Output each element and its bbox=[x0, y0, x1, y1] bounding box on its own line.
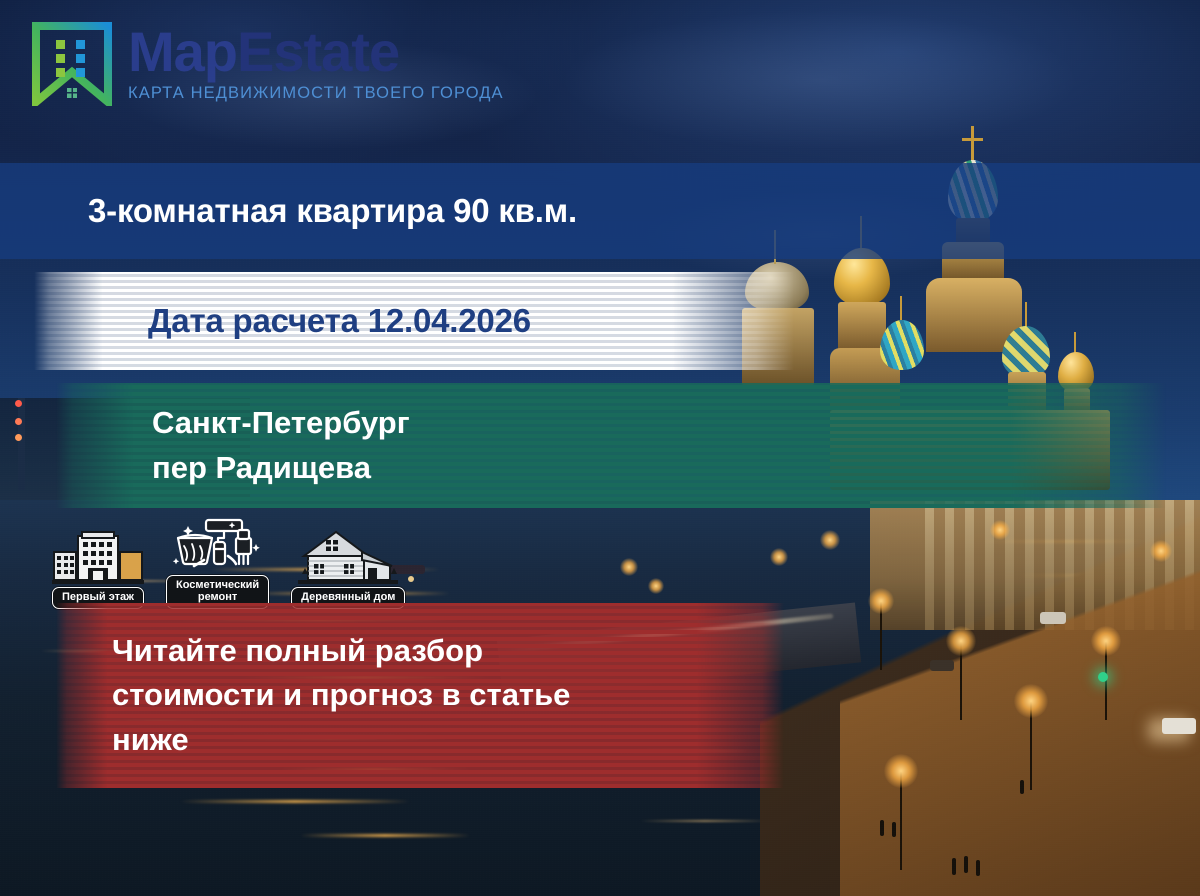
location-banner: Санкт-Петербург пер Радищева bbox=[56, 383, 1166, 508]
cathedral-striped-dome bbox=[880, 320, 924, 370]
city-name: Санкт-Петербург bbox=[152, 401, 1166, 446]
brand-name-map: Map bbox=[128, 20, 237, 83]
badge-art bbox=[298, 530, 398, 584]
street-lamp bbox=[1014, 684, 1048, 718]
badge-cosmetic-renovation[interactable]: Косметический ремонт bbox=[166, 518, 269, 609]
roadway bbox=[840, 560, 1200, 896]
cta-text: Читайте полный разбор стоимости и прогно… bbox=[56, 629, 784, 761]
wooden-house-icon bbox=[298, 530, 398, 584]
badge-art bbox=[52, 530, 144, 584]
cathedral-cross bbox=[900, 296, 902, 322]
brand-name-estate: Estate bbox=[237, 20, 399, 83]
brand-tagline: КАРТА НЕДВИЖИМОСТИ ТВОЕГО ГОРОДА bbox=[128, 84, 504, 103]
apartment-building-icon bbox=[52, 530, 144, 584]
street-lamp bbox=[620, 558, 638, 576]
map-estate-bookmark-building-icon bbox=[30, 22, 114, 106]
badge-art bbox=[170, 518, 266, 572]
cathedral-cross-bar bbox=[962, 138, 983, 141]
cta-line-1: Читайте полный разбор bbox=[112, 629, 764, 673]
cathedral-cross bbox=[1025, 302, 1027, 328]
brand-wordmark: MapEstate КАРТА НЕДВИЖИМОСТИ ТВОЕГО ГОРО… bbox=[128, 22, 504, 103]
street-lamp bbox=[1091, 626, 1121, 656]
traffic-light bbox=[1098, 672, 1108, 682]
calculation-date-banner: Дата расчета 12.04.2026 bbox=[34, 272, 794, 370]
street-lamp bbox=[820, 530, 840, 550]
cta-banner[interactable]: Читайте полный разбор стоимости и прогно… bbox=[56, 603, 784, 788]
brand-logo[interactable]: MapEstate КАРТА НЕДВИЖИМОСТИ ТВОЕГО ГОРО… bbox=[30, 22, 504, 106]
street-name: пер Радищева bbox=[152, 446, 1166, 491]
cta-line-3: ниже bbox=[112, 718, 764, 762]
brand-name: MapEstate bbox=[128, 24, 504, 80]
street-lamp bbox=[884, 754, 918, 788]
badge-first-floor[interactable]: Первый этаж bbox=[52, 530, 144, 609]
car bbox=[1162, 718, 1196, 734]
cta-line-2: стоимости и прогноз в статье bbox=[112, 673, 764, 717]
cathedral-cross bbox=[1074, 332, 1076, 354]
tower-beacon bbox=[15, 400, 22, 407]
property-title-text: 3-комнатная квартира 90 кв.м. bbox=[0, 192, 1200, 230]
location-text: Санкт-Петербург пер Радищева bbox=[56, 401, 1166, 491]
property-title-banner: 3-комнатная квартира 90 кв.м. bbox=[0, 163, 1200, 259]
street-lamp bbox=[868, 588, 894, 614]
street-lamp bbox=[770, 548, 788, 566]
radio-tower bbox=[18, 398, 25, 490]
feature-badges: Первый этаж bbox=[52, 518, 405, 609]
cathedral-checkered-dome bbox=[1002, 326, 1050, 378]
car bbox=[1040, 612, 1066, 624]
paint-roller-bucket-brush-icon bbox=[170, 518, 266, 572]
street-lamp bbox=[990, 520, 1010, 540]
street-lamp bbox=[648, 578, 664, 594]
boat-light bbox=[408, 576, 414, 582]
car bbox=[930, 660, 954, 671]
street-lamp bbox=[1150, 540, 1172, 562]
calculation-date-text: Дата расчета 12.04.2026 bbox=[34, 302, 794, 340]
badge-wooden-house[interactable]: Деревянный дом bbox=[291, 530, 405, 609]
street-lamp bbox=[946, 626, 976, 656]
